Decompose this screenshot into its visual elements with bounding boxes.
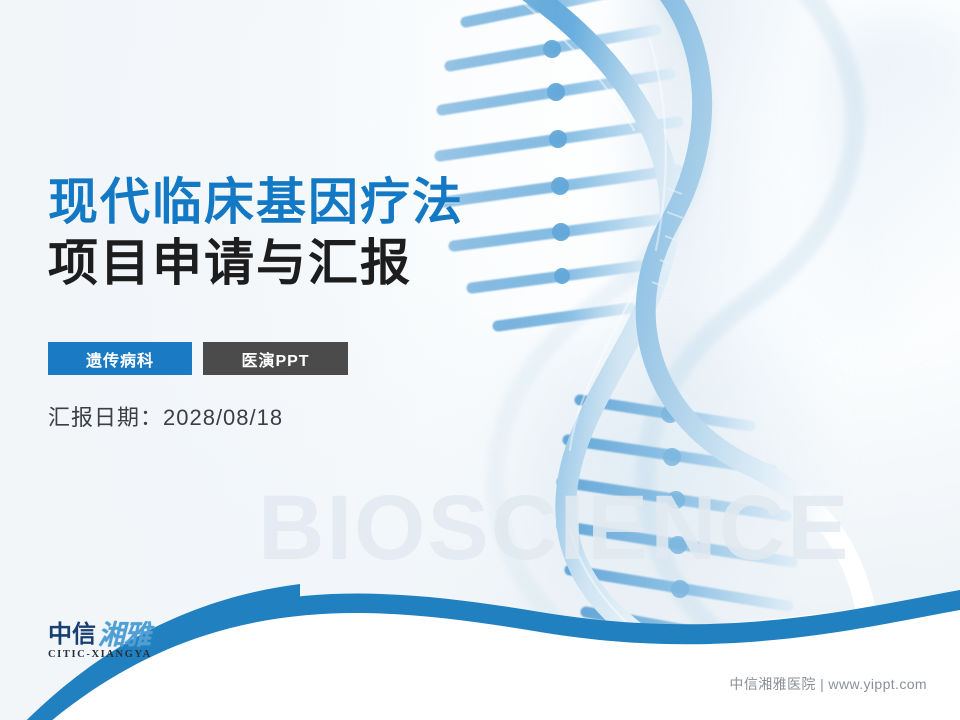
title-secondary-line: 项目申请与汇报 xyxy=(48,232,464,294)
logo-english-name: CITIC-XIANGYA xyxy=(48,649,170,660)
citic-xiangya-logo: 中信 湘雅 CITIC-XIANGYA xyxy=(48,620,170,660)
title-primary-line: 现代临床基因疗法 xyxy=(48,172,464,232)
presentation-title-slide: BIOSCIENCE 现代临床基因疗法 项目申请与汇报 遗传病科 医演PPT 汇… xyxy=(0,0,960,720)
logo-name-light: 湘雅 xyxy=(98,622,150,648)
badge-group: 遗传病科 医演PPT xyxy=(48,342,348,375)
logo-name-dark: 中信 xyxy=(48,622,96,648)
report-date: 汇报日期：2028/08/18 xyxy=(48,400,283,432)
badge-template-brand[interactable]: 医演PPT xyxy=(203,342,348,375)
badge-department[interactable]: 遗传病科 xyxy=(48,342,192,375)
logo-chinese-name: 中信 湘雅 xyxy=(48,620,170,648)
slide-title: 现代临床基因疗法 项目申请与汇报 xyxy=(48,172,464,294)
footer-credit: 中信湘雅医院 | www.yippt.com xyxy=(729,674,927,694)
